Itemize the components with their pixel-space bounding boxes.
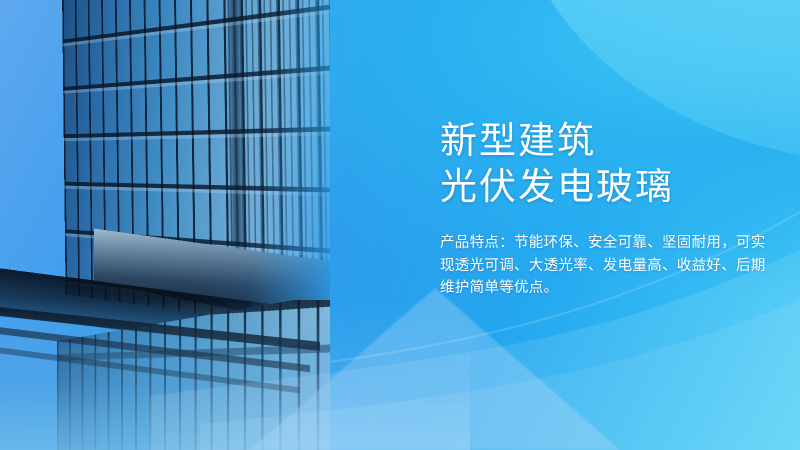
body-text: 产品特点：节能环保、安全可靠、坚固耐用，可实现透光可调、大透光率、发电量高、收益…	[440, 232, 778, 300]
banner-slide: 新型建筑 光伏发电玻璃 产品特点：节能环保、安全可靠、坚固耐用，可实现透光可调、…	[0, 0, 800, 450]
floor-gloss	[0, 300, 470, 450]
headline-line-1: 新型建筑	[440, 118, 780, 164]
copy-block: 新型建筑 光伏发电玻璃 产品特点：节能环保、安全可靠、坚固耐用，可实现透光可调、…	[440, 118, 780, 300]
headline-line-2: 光伏发电玻璃	[440, 164, 780, 210]
